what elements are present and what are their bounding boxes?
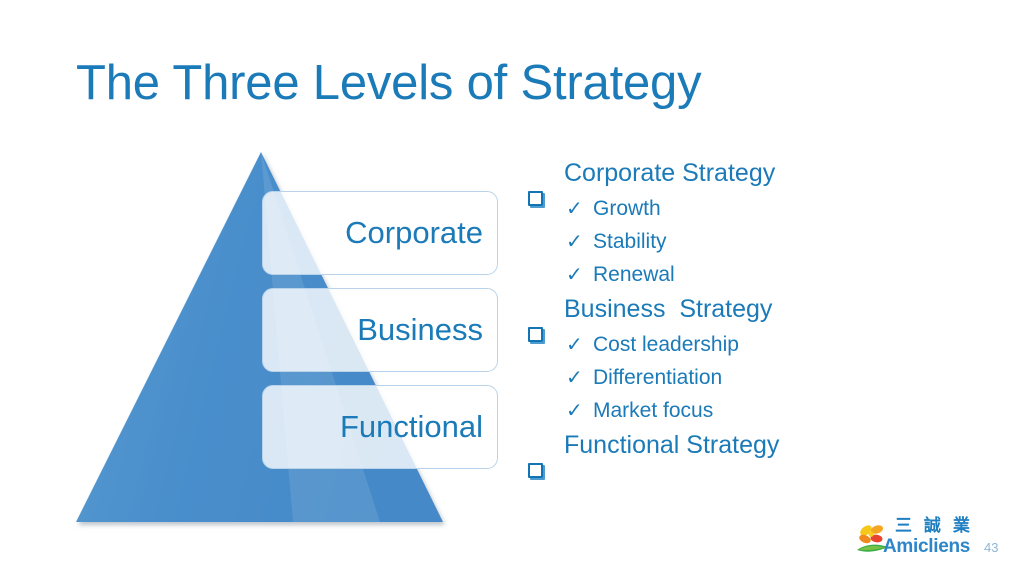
check-icon: ✓ [566,259,593,292]
bullet-item-corporate-strategy[interactable]: Corporate Strategy [528,155,928,192]
bullet-group-functional-strategy: Functional Strategy [528,427,928,464]
strategy-bullet-list: Corporate Strategy ✓ Growth ✓ Stability … [528,155,928,464]
bullet-group-corporate-strategy: Corporate Strategy ✓ Growth ✓ Stability … [528,155,928,291]
bullet-subitem-market-focus[interactable]: ✓ Market focus [528,394,928,427]
check-icon: ✓ [566,329,593,362]
page-number: 43 [984,540,998,556]
bullet-sublabel: Market focus [593,394,713,427]
bullet-subitem-cost-leadership[interactable]: ✓ Cost leadership [528,328,928,361]
bullet-sublabel: Differentiation [593,361,722,394]
bullet-label: Functional Strategy [564,427,779,464]
check-icon: ✓ [566,395,593,428]
bullet-sublabel: Renewal [593,258,675,291]
check-icon: ✓ [566,193,593,226]
bullet-group-business-strategy: Business Strategy ✓ Cost leadership ✓ Di… [528,291,928,427]
bullet-item-functional-strategy[interactable]: Functional Strategy [528,427,928,464]
bullet-subitem-growth[interactable]: ✓ Growth [528,192,928,225]
bullet-sublabel: Stability [593,225,667,258]
pyramid-level-label: Business [357,313,483,347]
pyramid-diagram: Corporate Business Functional [60,140,510,540]
pyramid-level-functional[interactable]: Functional [262,385,498,469]
bullet-sublabel: Cost leadership [593,328,739,361]
bullet-sublabel: Growth [593,192,661,225]
pyramid-level-label: Functional [340,410,483,444]
logo-wordmark-text: Amicliens [883,536,970,557]
bullet-label: Business Strategy [564,291,772,328]
bullet-subitem-differentiation[interactable]: ✓ Differentiation [528,361,928,394]
bullet-label: Corporate Strategy [564,155,775,192]
page-title: The Three Levels of Strategy [76,52,701,114]
company-logo: 三 誠 業 Amicliens [855,516,967,562]
pyramid-level-label: Corporate [345,216,483,250]
check-icon: ✓ [566,362,593,395]
bullet-item-business-strategy[interactable]: Business Strategy [528,291,928,328]
logo-cjk-text: 三 誠 業 [895,517,973,536]
bullet-subitem-stability[interactable]: ✓ Stability [528,225,928,258]
bullet-subitem-renewal[interactable]: ✓ Renewal [528,258,928,291]
pyramid-level-corporate[interactable]: Corporate [262,191,498,275]
check-icon: ✓ [566,226,593,259]
pyramid-level-business[interactable]: Business [262,288,498,372]
